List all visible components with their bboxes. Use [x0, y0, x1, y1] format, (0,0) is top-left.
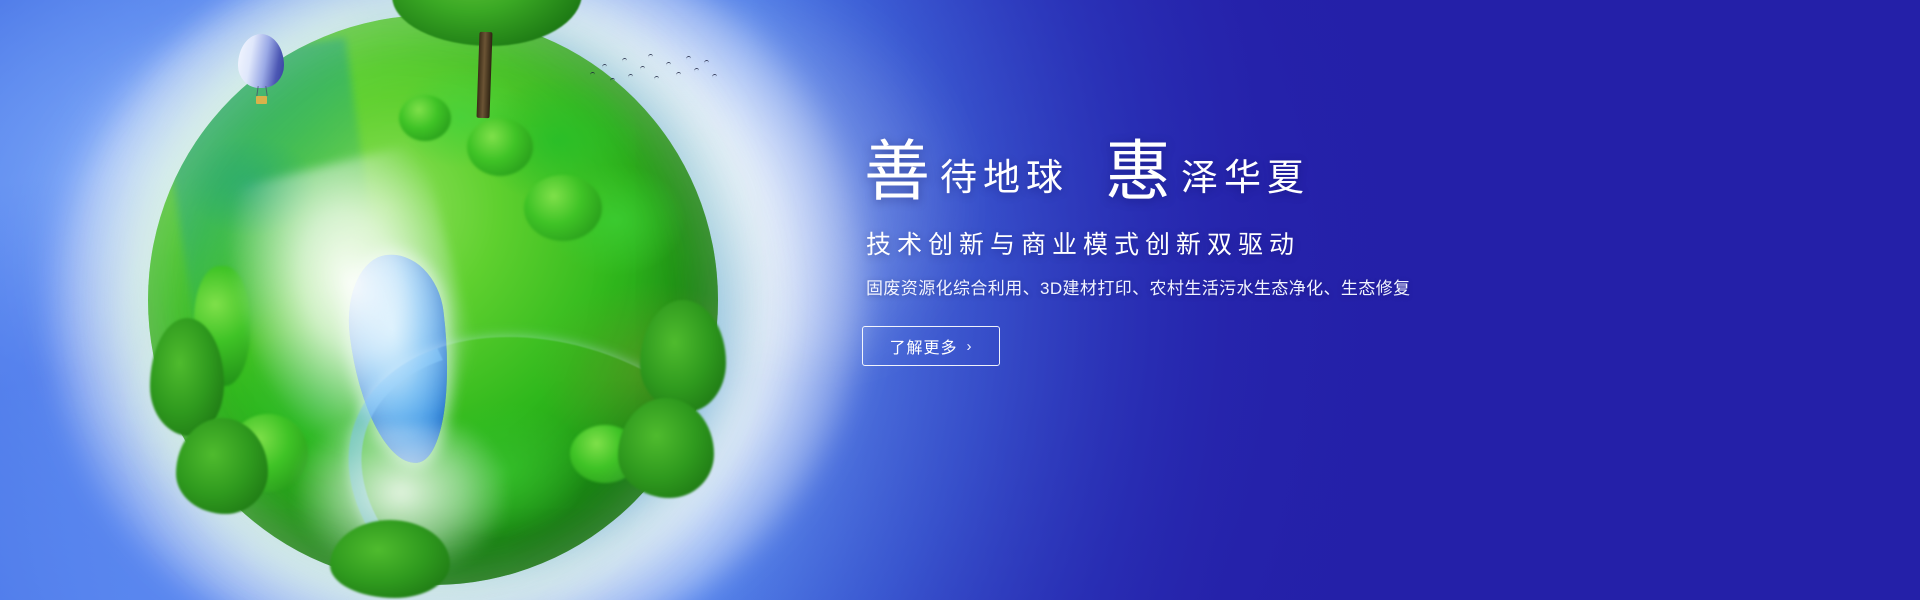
large-tree: [392, 0, 582, 130]
bird-icon: [602, 64, 607, 68]
learn-more-button[interactable]: 了解更多 ›: [862, 326, 1000, 366]
hot-air-balloon-icon: [238, 34, 284, 108]
bird-icon: [666, 62, 671, 66]
bird-flock: [588, 48, 718, 94]
bird-icon: [712, 74, 717, 78]
tree-trunk: [477, 32, 493, 118]
headline-big-char-2: 惠: [1105, 140, 1171, 206]
headline-phrase-1: 善 待地球: [864, 140, 1069, 206]
learn-more-label: 了解更多: [889, 334, 957, 358]
headline-small-text-1: 待地球: [940, 160, 1069, 197]
bird-icon: [704, 60, 709, 64]
balloon-line: [256, 86, 258, 96]
bird-icon: [654, 76, 659, 80]
cta-row: 了解更多 ›: [862, 326, 1560, 366]
bird-icon: [648, 54, 653, 58]
balloon-basket: [256, 96, 267, 104]
side-tree: [330, 520, 450, 598]
chevron-right-icon: ›: [967, 339, 973, 354]
balloon-line: [265, 86, 267, 96]
description: 固废资源化综合利用、3D建材打印、农村生活污水生态净化、生态修复: [866, 278, 1560, 300]
banner-copy: 善 待地球 惠 泽华夏 技术创新与商业模式创新双驱动 固废资源化综合利用、3D建…: [860, 140, 1560, 366]
headline-small-text-2: 泽华夏: [1181, 160, 1310, 197]
side-tree: [176, 418, 268, 514]
bird-icon: [622, 58, 627, 62]
bird-icon: [694, 68, 699, 72]
bird-icon: [590, 72, 595, 76]
headline: 善 待地球 惠 泽华夏: [864, 140, 1560, 206]
headline-phrase-2: 惠 泽华夏: [1105, 140, 1310, 206]
balloon-envelope: [238, 34, 284, 88]
bird-icon: [610, 78, 615, 82]
hero-banner: 善 待地球 惠 泽华夏 技术创新与商业模式创新双驱动 固废资源化综合利用、3D建…: [0, 0, 1920, 600]
bird-icon: [628, 74, 633, 78]
globe-tree-clump: [524, 175, 602, 241]
headline-big-char-1: 善: [864, 140, 930, 206]
bird-icon: [676, 72, 681, 76]
bird-icon: [686, 56, 691, 60]
subtitle: 技术创新与商业模式创新双驱动: [866, 230, 1560, 260]
bird-icon: [640, 66, 645, 70]
